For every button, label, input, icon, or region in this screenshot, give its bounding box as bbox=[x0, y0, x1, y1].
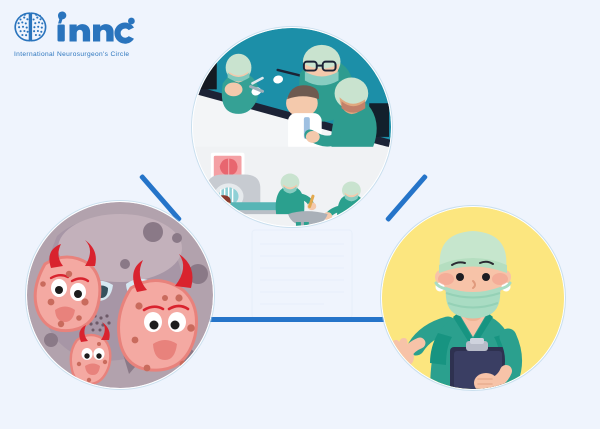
brain-icon bbox=[15, 13, 45, 41]
connector-bottom bbox=[192, 317, 410, 322]
background-watermark bbox=[246, 226, 358, 322]
bubble-surgery[interactable] bbox=[192, 27, 392, 227]
bubble-nurse[interactable] bbox=[381, 206, 565, 390]
inc-logo: International Neurosurgeon's Circle bbox=[12, 10, 162, 68]
bubble-tumor-cells[interactable] bbox=[26, 201, 214, 389]
inc-wordmark bbox=[58, 11, 135, 43]
poster-canvas: International Neurosurgeon's Circle bbox=[0, 0, 600, 429]
connector-top-right bbox=[385, 174, 428, 223]
inc-logo-mark bbox=[12, 10, 138, 50]
logo-caption: International Neurosurgeon's Circle bbox=[14, 51, 160, 58]
